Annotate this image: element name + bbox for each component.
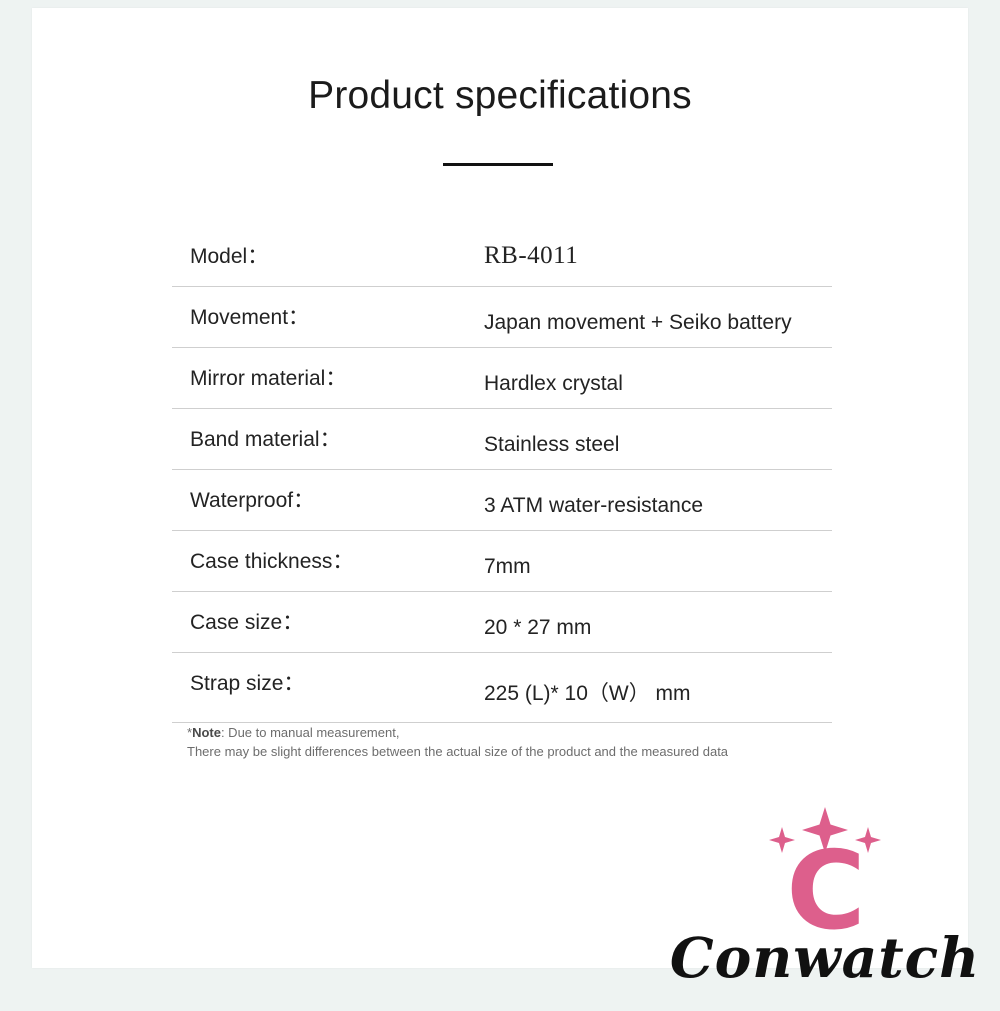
spec-value-mirror-material: Hardlex crystal [484,372,623,396]
page-title: Product specifications [32,74,968,118]
spec-value-model: RB-4011 [484,242,578,270]
measurement-note-line-2: There may be slight differences between … [187,742,887,761]
spec-label-case-size: Case size： [190,606,303,636]
table-row: Band material： Stainless steel [172,409,832,470]
note-line-1-rest: : Due to manual measurement, [221,725,399,740]
spec-value-case-thickness: 7mm [484,555,531,579]
spec-value-band-material: Stainless steel [484,433,619,457]
title-underline-divider [443,163,553,166]
spec-label-band-material: Band material： [190,423,341,453]
spec-label-mirror-material: Mirror material： [190,362,346,392]
table-row: Mirror material： Hardlex crystal [172,348,832,409]
spec-value-movement: Japan movement + Seiko battery [484,311,792,335]
spec-label-case-thickness: Case thickness： [190,545,353,575]
table-row: Strap size： 225 (L)* 10（W） mm [172,653,832,723]
brand-logo: C Conwatch [660,800,990,1000]
logo-wordmark-conwatch: Conwatch [660,928,990,988]
table-row: Case thickness： 7mm [172,531,832,592]
table-row: Case size： 20 * 27 mm [172,592,832,653]
spec-value-case-size: 20 * 27 mm [484,616,591,640]
note-bold-label: Note [192,725,221,740]
table-row: Model： RB-4011 [172,226,832,287]
spec-value-waterproof: 3 ATM water-resistance [484,494,703,518]
table-row: Waterproof： 3 ATM water-resistance [172,470,832,531]
spec-label-waterproof: Waterproof： [190,484,314,514]
measurement-note-line-1: *Note: Due to manual measurement, [187,723,887,742]
table-row: Movement： Japan movement + Seiko battery [172,287,832,348]
spec-value-strap-size: 225 (L)* 10（W） mm [484,677,691,707]
specifications-table: Model： RB-4011 Movement： Japan movement … [172,226,832,723]
spec-label-strap-size: Strap size： [190,667,304,697]
spec-label-model: Model： [190,240,268,270]
measurement-note: *Note: Due to manual measurement, There … [187,723,887,761]
spec-label-movement: Movement： [190,301,309,331]
